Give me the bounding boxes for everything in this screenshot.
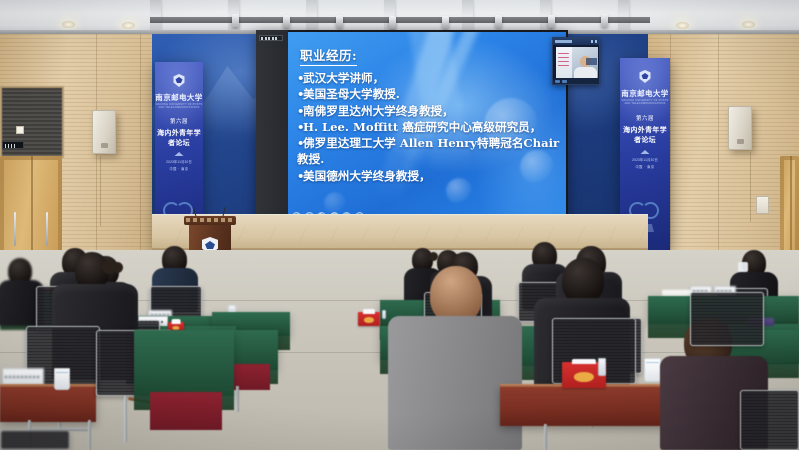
conference-table <box>0 386 96 422</box>
exit-sign <box>2 141 24 149</box>
paper-cup <box>644 358 661 382</box>
chair <box>690 292 764 346</box>
banner-location: 中国 · 南京 <box>620 164 670 169</box>
camera-icon[interactable] <box>562 80 567 83</box>
slide-bullet-item: •美国德州大学终身教授， <box>297 168 563 184</box>
banner-university-name: 南京邮电大学 <box>155 92 203 103</box>
paper-cup <box>54 368 70 390</box>
presentation-slide: 职业经历: •武汉大学讲师， •美国圣母大学教授. •南佛罗里达州大学终身教授，… <box>288 32 566 225</box>
slide-bullet-item: •南佛罗里达州大学终身教授， <box>297 103 563 119</box>
hand-sanitizer <box>382 310 386 319</box>
hand-sanitizer <box>598 358 606 376</box>
wall-speaker-left <box>92 110 116 154</box>
slide-bullet-item: •武汉大学讲师， <box>297 70 563 86</box>
ceiling-track-light <box>336 15 343 28</box>
recessed-downlight <box>676 22 689 29</box>
banner-university-name: 南京邮电大学 <box>620 88 670 99</box>
recessed-downlight <box>122 22 135 29</box>
window-title-text <box>555 40 572 43</box>
conference-table <box>134 330 234 396</box>
table-skirt <box>150 392 222 430</box>
entry-door-left[interactable] <box>0 156 62 260</box>
lighting-track <box>150 17 650 23</box>
wall-outlet-plate[interactable] <box>756 196 769 214</box>
video-conference-titlebar[interactable] <box>553 38 599 45</box>
screen-status-indicator <box>259 35 283 41</box>
banner-edition: 第六届 <box>620 114 670 122</box>
ceiling-track-light <box>548 15 555 28</box>
slide-bullet-item: •H. Lee. Moffitt 癌症研究中心高级研究员， <box>297 119 563 135</box>
conference-hall-photo: 职业经历: •武汉大学讲师， •美国圣母大学教授. •南佛罗里达州大学终身教授，… <box>0 0 799 450</box>
recessed-downlight <box>62 21 75 28</box>
microphone-icon[interactable] <box>555 80 560 83</box>
ceiling-track-light <box>283 15 290 28</box>
slide-bullet-item: •佛罗里达理工大学 Allen Henry特聘冠名Chair教授. <box>297 135 563 168</box>
banner-university-subtitle: NANJING UNIVERSITY OF POSTS AND TELECOMM… <box>155 103 203 109</box>
participant-name-overlay <box>586 58 597 65</box>
video-conference-window[interactable] <box>552 37 600 85</box>
ceiling-track-light <box>601 14 608 27</box>
banner-date: 2023年11月30日 <box>155 159 203 164</box>
screen-side-panel <box>256 30 288 235</box>
entry-door-right[interactable] <box>780 156 799 260</box>
window-controls[interactable] <box>591 40 598 43</box>
banner-forum-title: 海内外青年学者论坛 <box>620 125 670 145</box>
ceiling-track-light <box>389 16 396 29</box>
banner-university-subtitle: NANJING UNIVERSITY OF POSTS AND TELECOMM… <box>620 99 670 105</box>
recessed-downlight <box>742 21 755 28</box>
video-participant-feed[interactable] <box>556 47 598 80</box>
slide-bullet-list: •武汉大学讲师， •美国圣母大学教授. •南佛罗里达州大学终身教授， •H. L… <box>297 70 563 184</box>
chair <box>740 390 799 450</box>
banner-location: 中国 · 南京 <box>155 166 203 171</box>
slide-title: 职业经历: <box>300 45 357 66</box>
lectern-top <box>184 216 236 225</box>
video-conference-toolbar[interactable] <box>553 78 599 84</box>
ceiling-track-light <box>495 15 502 28</box>
banner-forum-title: 海内外青年学者论坛 <box>155 128 203 148</box>
tissue-box <box>358 312 380 326</box>
light-switch[interactable] <box>16 126 24 134</box>
banner-date: 2023年11月30日 <box>620 157 670 162</box>
wall-speaker-right <box>728 106 752 150</box>
banner-edition: 第六届 <box>155 117 203 125</box>
ceiling-track-light <box>442 16 449 29</box>
slide-bullet-item: •美国圣母大学教授. <box>297 86 563 102</box>
chair <box>0 430 70 450</box>
ceiling-track-light <box>232 14 239 27</box>
shared-slide-thumbnail <box>556 47 572 80</box>
